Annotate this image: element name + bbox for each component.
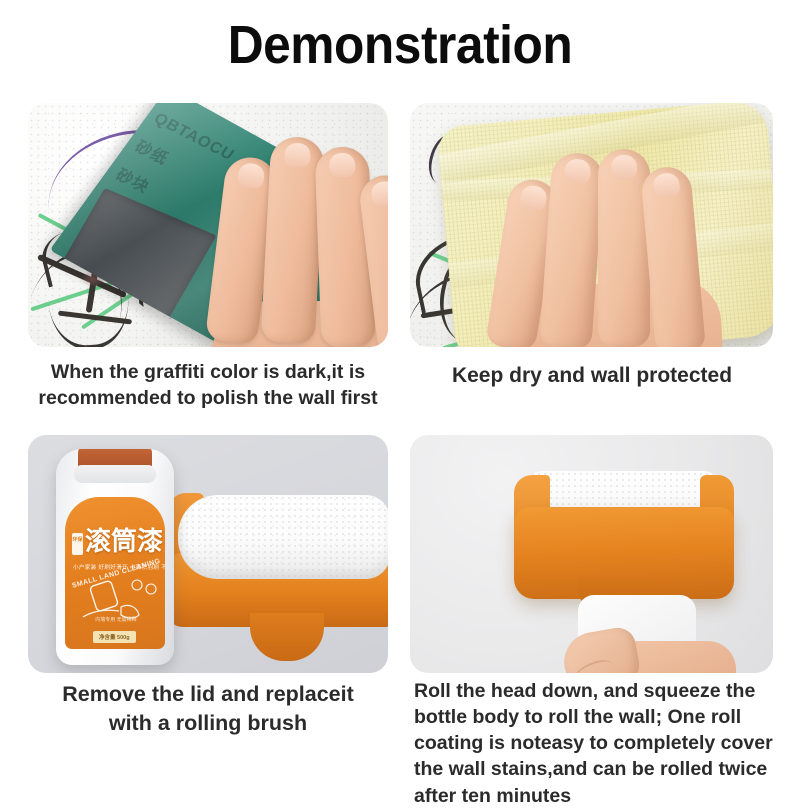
fingernail xyxy=(237,162,266,189)
bottle-neck xyxy=(74,465,156,483)
fingernail xyxy=(519,184,548,212)
step-2-caption: Keep dry and wall protected xyxy=(402,362,782,390)
thumb xyxy=(560,625,643,673)
step-3-caption: Remove the lid and replaceit with a roll… xyxy=(18,680,398,737)
fingernail xyxy=(284,142,311,167)
step-1-photo: QBTAOCU 砂纸 砂块 S 120 xyxy=(28,103,388,347)
caption-line: When the graffiti color is dark,it is xyxy=(18,360,398,386)
roller-fabric-sleeve xyxy=(178,495,388,579)
knuckle-crease xyxy=(572,656,616,673)
roller-fabric-texture xyxy=(178,495,388,579)
step-2-photo xyxy=(410,103,773,347)
hand-wiping-wall xyxy=(494,133,744,347)
step-4-image-cell xyxy=(410,435,773,673)
caption-line: after ten minutes xyxy=(414,783,786,809)
fingernail xyxy=(652,172,680,198)
caption-line: bottle body to roll the wall; One roll xyxy=(414,704,786,730)
bottle-label: 环保 滚筒漆 小户家装 好刷好滑开 小面积羽刷 不脱漆回更 SMALL LAND… xyxy=(65,497,165,649)
step-3-photo: 环保 滚筒漆 小户家装 好刷好滑开 小面积羽刷 不脱漆回更 SMALL LAND… xyxy=(28,435,388,673)
step-4-photo xyxy=(410,435,773,673)
hand-squeezing-bottle xyxy=(560,617,740,673)
step-1-caption: When the graffiti color is dark,it is re… xyxy=(18,360,398,412)
hand-holding-sanding-block xyxy=(210,131,388,347)
bottle-label-fine-print: 内墙专用 无需稀释 xyxy=(75,617,157,624)
step-3-image-cell: 环保 滚筒漆 小户家装 好刷好滑开 小面积羽刷 不脱漆回更 SMALL LAND… xyxy=(28,435,388,673)
caption-line: with a rolling brush xyxy=(18,709,398,738)
page-title: Demonstration xyxy=(32,14,768,76)
caption-line: Keep dry and wall protected xyxy=(402,362,782,390)
bottle-label-side-tag: 环保 xyxy=(72,533,83,555)
step-2-image-cell xyxy=(410,103,773,347)
caption-line: coating is noteasy to completely cover xyxy=(414,730,786,756)
caption-line: recommended to polish the wall first xyxy=(18,386,398,412)
fingernail xyxy=(370,180,388,207)
caption-line: Roll the head down, and squeeze the xyxy=(414,678,786,704)
demonstration-page: Demonstration QBTA xyxy=(0,0,800,800)
caption-line: Remove the lid and replaceit xyxy=(18,680,398,709)
fingernail xyxy=(564,158,592,184)
caption-line: the wall stains,and can be rolled twice xyxy=(414,756,786,782)
fingernail xyxy=(329,153,356,178)
finger xyxy=(598,149,650,347)
step-4-caption: Roll the head down, and squeeze the bott… xyxy=(414,678,786,809)
step-1-image-cell: QBTAOCU 砂纸 砂块 S 120 xyxy=(28,103,388,347)
paint-bottle: 环保 滚筒漆 小户家装 好刷好滑开 小面积羽刷 不脱漆回更 SMALL LAND… xyxy=(56,449,174,665)
bottle-label-title: 滚筒漆 xyxy=(85,527,161,555)
bottle-label-net-weight-badge: 净含量 500g xyxy=(93,631,136,643)
fingernail xyxy=(611,155,637,179)
